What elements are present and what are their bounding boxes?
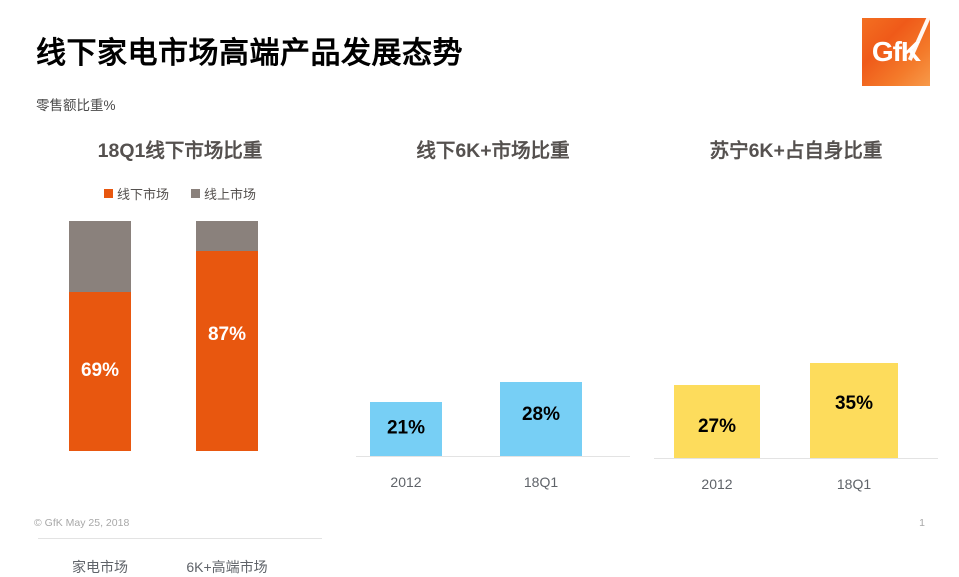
legend-item-online: 线上市场 (191, 184, 256, 203)
bar-value-label: 27% (674, 416, 760, 438)
slide-subtitle: 零售额比重% (36, 94, 116, 114)
bar-segment-offline[interactable]: 87% (196, 251, 258, 451)
legend-label-online: 线上市场 (204, 184, 256, 203)
bar-value-label: 35% (810, 393, 898, 415)
legend-item-offline: 线下市场 (104, 184, 169, 203)
bar-value-label: 69% (69, 360, 131, 382)
chart-panel-suning-6k-share: 苏宁6K+占自身比重 27% 2012 35% 18Q1 (646, 134, 946, 484)
table-row[interactable]: 27% (674, 385, 760, 458)
bar-segment[interactable]: 35% (810, 363, 898, 458)
category-label: 18Q1 (810, 476, 898, 492)
gfk-logo: GfK (862, 18, 930, 86)
category-label: 2012 (674, 476, 760, 492)
footer-copyright: © GfK May 25, 2018 (34, 517, 129, 529)
table-row[interactable]: 35% (810, 363, 898, 458)
category-label: 18Q1 (500, 474, 582, 490)
table-row[interactable]: 69% (69, 221, 131, 451)
chart-panel-offline-6k-share: 线下6K+市场比重 21% 2012 28% 18Q1 (348, 134, 638, 484)
legend-swatch-offline-icon (104, 189, 113, 198)
table-row[interactable]: 21% (370, 402, 442, 456)
legend-swatch-online-icon (191, 189, 200, 198)
bar-value-label: 28% (500, 404, 582, 426)
axis-line-x (654, 458, 938, 459)
category-label: 6K+高端市场 (166, 557, 288, 577)
page-title: 线下家电市场高端产品发展态势 (36, 28, 463, 72)
plot-area: 21% 2012 28% 18Q1 (348, 164, 638, 484)
bar-segment-online[interactable] (196, 221, 258, 251)
category-label: 家电市场 (49, 557, 151, 577)
bar-segment[interactable]: 27% (674, 385, 760, 458)
logo-wordmark: GfK (862, 36, 930, 68)
table-row[interactable]: 87% (196, 221, 258, 451)
axis-line-x (356, 456, 630, 457)
bar-value-label: 21% (370, 418, 442, 440)
chart-legend: 线下市场 线上市场 (30, 184, 330, 203)
chart-title: 苏宁6K+占自身比重 (646, 134, 946, 163)
chart-panel-offline-share: 18Q1线下市场比重 线下市场 线上市场 69% 家电市场 87% 6K+高端市 (30, 134, 330, 484)
category-label: 2012 (370, 474, 442, 490)
plot-area: 69% 家电市场 87% 6K+高端市场 (30, 221, 330, 484)
plot-area: 27% 2012 35% 18Q1 (646, 164, 946, 484)
chart-title: 18Q1线下市场比重 (30, 134, 330, 163)
bar-segment[interactable]: 28% (500, 382, 582, 456)
bar-segment[interactable]: 21% (370, 402, 442, 456)
chart-title: 线下6K+市场比重 (348, 134, 638, 163)
bar-segment-online[interactable] (69, 221, 131, 292)
table-row[interactable]: 28% (500, 382, 582, 456)
bar-value-label: 87% (196, 324, 258, 346)
bar-segment-offline[interactable]: 69% (69, 292, 131, 451)
legend-label-offline: 线下市场 (117, 184, 169, 203)
footer-page-number: 1 (919, 517, 925, 529)
